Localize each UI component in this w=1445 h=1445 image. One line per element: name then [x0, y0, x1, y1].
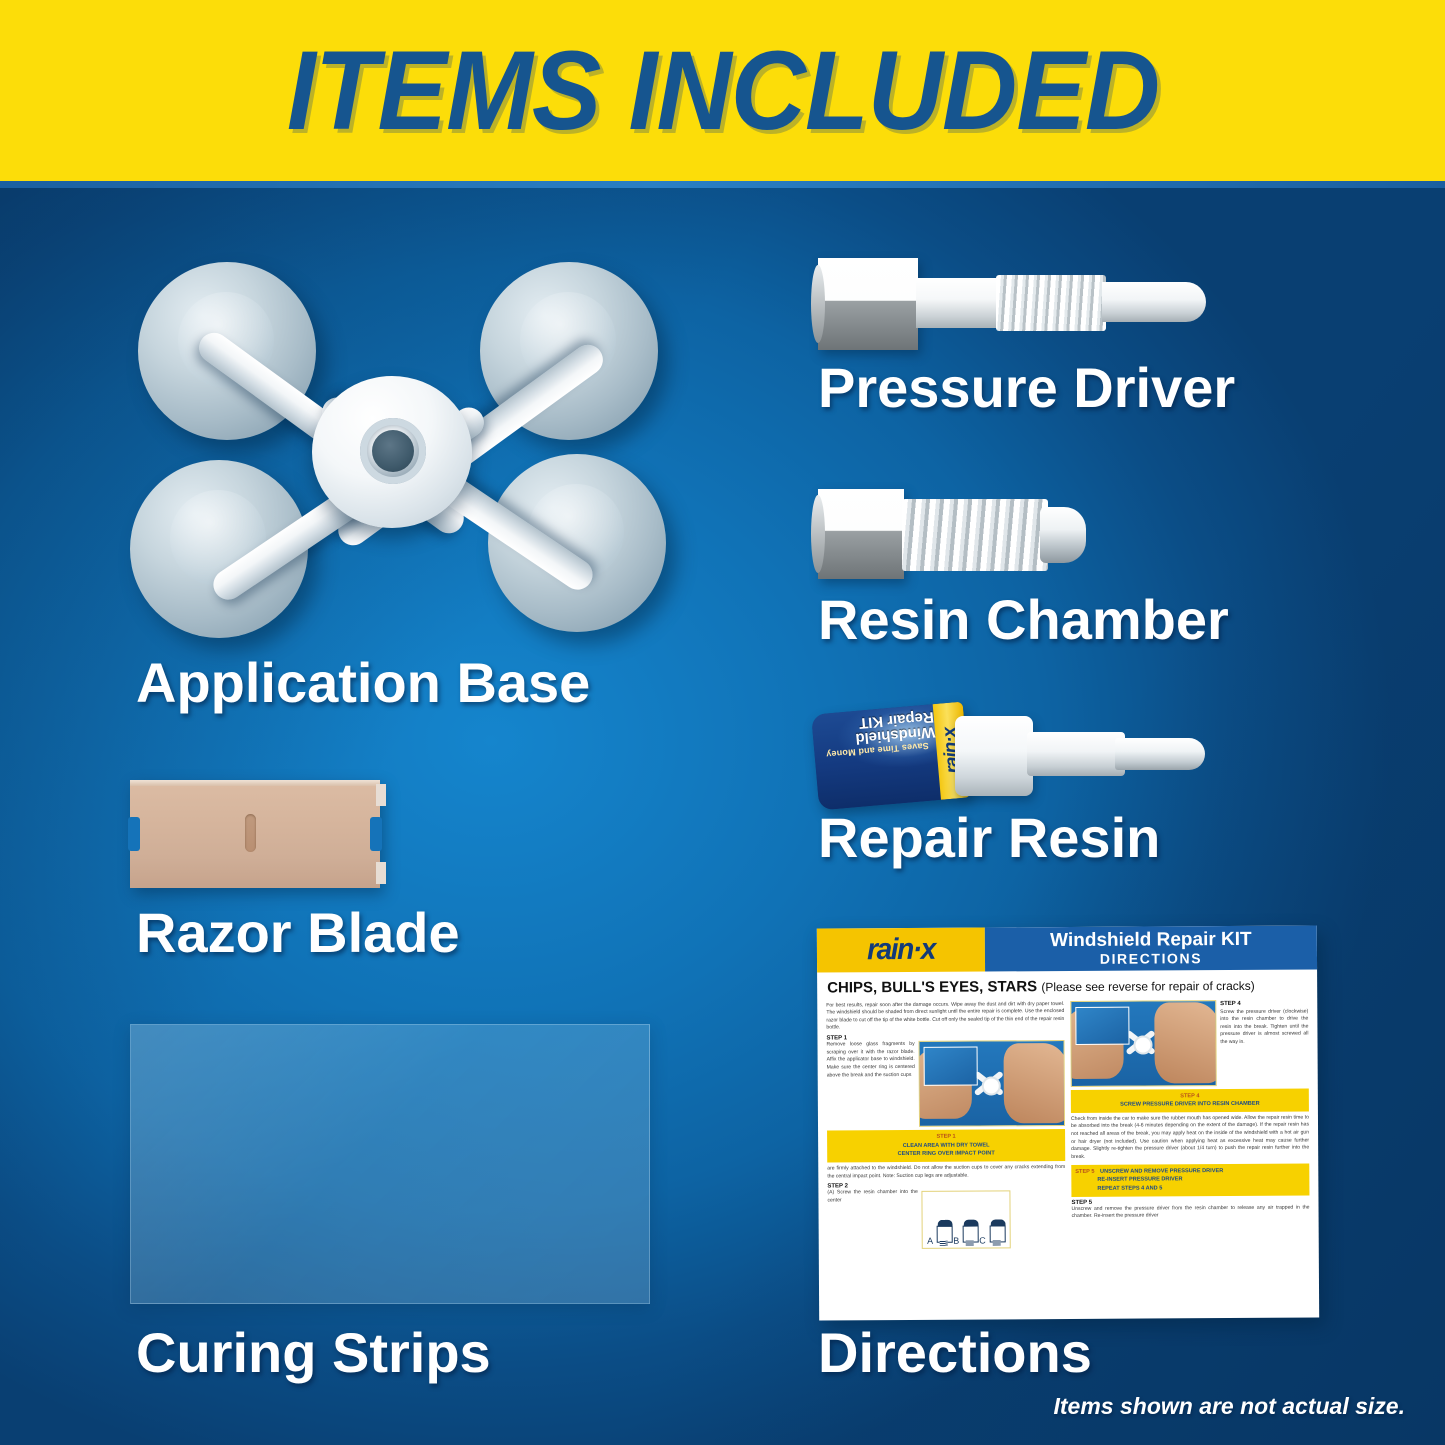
repair-resin-neck: [1027, 732, 1125, 776]
abc-letter-a: A: [927, 1236, 933, 1246]
step5-callout-bullet-1: UNSCREW AND REMOVE PRESSURE DRIVER: [1100, 1168, 1223, 1175]
resin-chamber-tip: [1040, 507, 1086, 563]
label-repair-resin: Repair Resin: [818, 810, 1160, 866]
repair-resin-illustration: Saves Time and Money Windshield Repair K…: [815, 700, 1205, 810]
directions-section-heading: CHIPS, BULL'S EYES, STARS (Please see re…: [817, 969, 1317, 1000]
razor-blade-notch-right: [370, 817, 382, 851]
directions-sheet-title-block: Windshield Repair KIT DIRECTIONS: [985, 925, 1317, 971]
repair-resin-bottle: Saves Time and Money Windshield Repair K…: [811, 702, 971, 811]
razor-blade-slot: [245, 814, 256, 852]
razor-blade-tab-top: [376, 784, 386, 806]
directions-sheet-title: Windshield Repair KIT: [985, 930, 1317, 952]
step5-callout: STEP 5 UNSCREW AND REMOVE PRESSURE DRIVE…: [1071, 1163, 1309, 1196]
label-application-base: Application Base: [136, 655, 590, 711]
label-resin-chamber: Resin Chamber: [818, 592, 1229, 648]
step1-callout: STEP 1 CLEAN AREA WITH DRY TOWEL CENTER …: [827, 1129, 1065, 1162]
resin-chamber-illustration: [818, 485, 1088, 587]
abc-item-a: A: [927, 1220, 953, 1246]
step4-block: STEP 4 Screw the pressure driver (clockw…: [1070, 999, 1309, 1086]
bottle-label-text: Saves Time and Money Windshield Repair K…: [815, 708, 940, 806]
step4-callout: STEP 4 SCREW PRESSURE DRIVER INTO RESIN …: [1071, 1088, 1309, 1113]
directions-section-heading-main: CHIPS, BULL'S EYES, STARS: [827, 978, 1037, 996]
pressure-driver-threads: [996, 275, 1106, 331]
directions-intro-text: For best results, repair soon after the …: [826, 1001, 1064, 1033]
step4-photo-inset: [1075, 1006, 1129, 1045]
label-razor-blade: Razor Blade: [136, 905, 460, 961]
directions-sheet-header: rain·x Windshield Repair KIT DIRECTIONS: [817, 925, 1317, 972]
pressure-driver-hex-head: [818, 258, 918, 350]
resin-chamber-threads: [902, 499, 1048, 571]
center-ring-hub: [312, 376, 472, 528]
directions-left-column: For best results, repair soon after the …: [826, 1001, 1066, 1250]
step4-callout-bullet-1: SCREW PRESSURE DRIVER INTO RESIN CHAMBER: [1075, 1100, 1305, 1110]
abc-letter-b: B: [953, 1236, 959, 1246]
items-included-infographic: ITEMS INCLUDED Application Base Razor Bl…: [0, 0, 1445, 1445]
step4-text-wrap: STEP 4 Screw the pressure driver (clockw…: [1220, 999, 1309, 1086]
abc-item-c: C: [979, 1220, 1006, 1246]
step1-photo: [919, 1040, 1065, 1127]
repair-resin-tip: [1115, 738, 1205, 770]
step1-block: Remove loose glass fragments by scraping…: [826, 1040, 1065, 1127]
page-title: ITEMS INCLUDED: [286, 35, 1158, 147]
abc-item-b: B: [953, 1220, 979, 1246]
step5-text: Unscrew and remove the pressure driver f…: [1072, 1204, 1310, 1221]
step1-photo-inset: [924, 1047, 978, 1086]
chamber-diagram-icon: [961, 1220, 979, 1246]
directions-columns: For best results, repair soon after the …: [817, 997, 1319, 1250]
rainx-logo-text: rain·x: [867, 933, 935, 967]
rainx-logo: rain·x: [817, 928, 985, 973]
chamber-diagram-icon: [988, 1220, 1006, 1246]
razor-blade-body: [130, 780, 380, 888]
directions-sheet-illustration: rain·x Windshield Repair KIT DIRECTIONS …: [817, 925, 1319, 1320]
razor-blade-edge: [130, 780, 380, 786]
razor-blade-tab-bottom: [376, 862, 386, 884]
directions-right-column: STEP 4 Screw the pressure driver (clockw…: [1070, 999, 1310, 1248]
pressure-driver-shank: [916, 278, 1000, 328]
threaded-center-hole: [360, 418, 426, 484]
step2-abc-diagram: A B C: [922, 1191, 1011, 1250]
header-banner: ITEMS INCLUDED: [0, 0, 1445, 181]
label-pressure-driver: Pressure Driver: [818, 360, 1235, 416]
step1-continued-text: are firmly attached to the windshield. D…: [827, 1164, 1065, 1181]
directions-sheet-subtitle: DIRECTIONS: [985, 949, 1317, 967]
resin-chamber-hex-head: [818, 489, 904, 579]
curing-strips-illustration: [130, 1024, 650, 1304]
chamber-diagram-icon: [935, 1220, 953, 1246]
step5-callout-bullet-3: REPEAT STEPS 4 AND 5: [1075, 1184, 1305, 1194]
pressure-driver-tip: [1102, 282, 1206, 322]
razor-blade-notch-left: [128, 817, 140, 851]
pressure-driver-illustration: [818, 252, 1208, 356]
disclaimer-text: Items shown are not actual size.: [1054, 1393, 1406, 1420]
step1-text: Remove loose glass fragments by scraping…: [826, 1041, 915, 1128]
step2-text: (A) Screw the resin chamber into the cen…: [827, 1189, 918, 1250]
header-divider: [0, 181, 1445, 188]
step2-block: (A) Screw the resin chamber into the cen…: [827, 1188, 1065, 1249]
step4-photo: [1070, 1000, 1216, 1087]
step5-callout-head: STEP 5: [1075, 1168, 1094, 1174]
step4-continued-text: Check from inside the car to make sure t…: [1071, 1114, 1309, 1161]
label-directions: Directions: [818, 1325, 1092, 1381]
repair-resin-cap: [955, 716, 1033, 796]
directions-section-heading-note: (Please see reverse for repair of cracks…: [1041, 979, 1255, 994]
abc-letter-c: C: [979, 1236, 986, 1246]
label-curing-strips: Curing Strips: [136, 1325, 491, 1381]
application-base-illustration: [120, 248, 680, 638]
razor-blade-illustration: [130, 780, 380, 888]
step4-text: Screw the pressure driver (clockwise) in…: [1220, 1008, 1308, 1047]
curing-strip-sheet: [130, 1024, 650, 1304]
step1-callout-bullet-2: CENTER RING OVER IMPACT POINT: [831, 1149, 1061, 1159]
